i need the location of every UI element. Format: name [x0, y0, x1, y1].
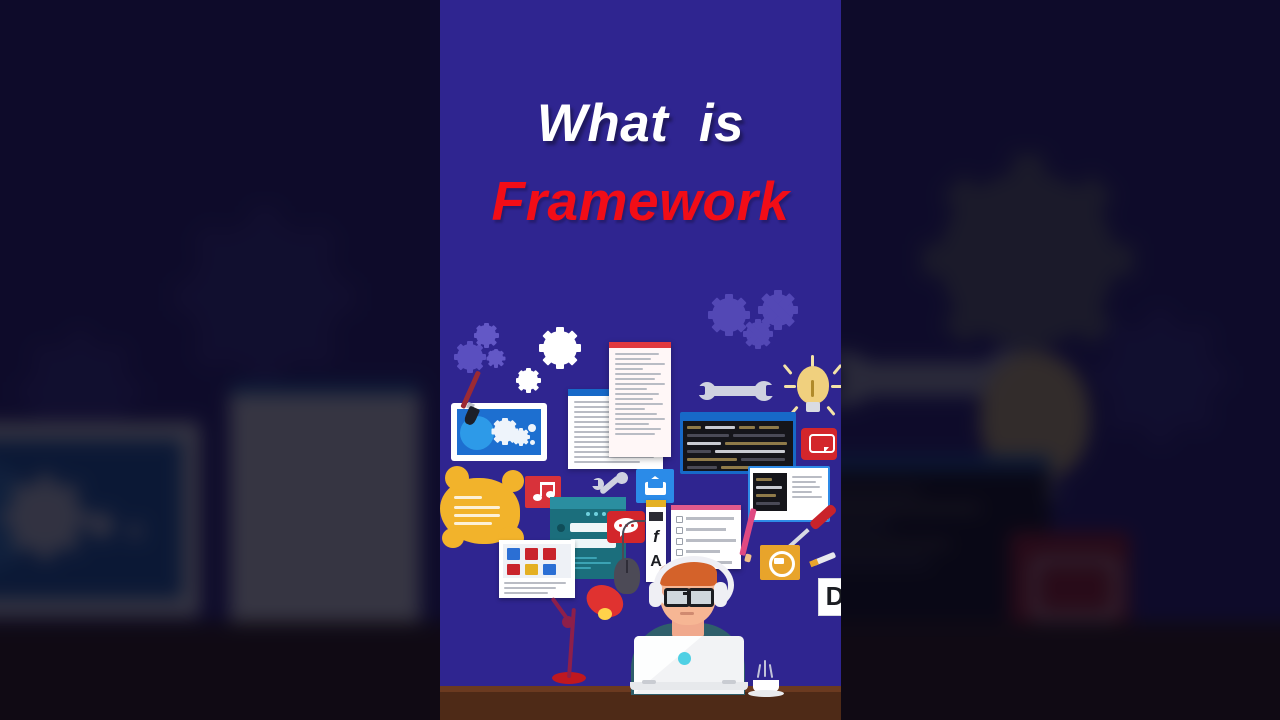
code-line: [715, 450, 785, 453]
gear-icon: [712, 298, 746, 332]
typography-glyph-f: f: [648, 527, 664, 547]
wrench-notch: [766, 385, 775, 396]
title-block: What is Framework: [440, 96, 841, 230]
form-dot: [586, 512, 590, 516]
letter-glyph-d: D: [820, 580, 841, 612]
center-panel: What is Framework: [440, 0, 841, 720]
code-line: [705, 426, 735, 429]
gear-icon: [518, 370, 538, 390]
checklist-bullet: [676, 516, 683, 523]
code-line: [756, 478, 772, 481]
thumbnail-stage: What is Framework: [0, 0, 1280, 720]
laptop-logo: [678, 652, 691, 665]
blob-bump: [445, 466, 469, 490]
checklist-line: [686, 539, 736, 542]
checklist-bullet: [676, 538, 683, 545]
preview-text-lines: [792, 476, 822, 501]
color-swatch: [507, 564, 520, 575]
code-line: [756, 486, 782, 489]
chat-bubble-tail: [824, 447, 829, 453]
monitor-dot: [528, 424, 536, 432]
coffee-saucer: [748, 690, 784, 697]
code-line: [739, 426, 755, 429]
badge-center: [774, 558, 784, 564]
checklist-bullet: [676, 527, 683, 534]
bulb-base: [806, 402, 820, 412]
blob-bump: [442, 528, 464, 548]
document-red-lines: [615, 353, 667, 438]
palette-lines: [504, 582, 566, 597]
color-swatch: [525, 548, 538, 560]
code-line: [759, 426, 779, 429]
gear-icon: [514, 430, 528, 444]
typography-header: [646, 500, 666, 507]
code-line: [733, 434, 785, 437]
color-swatch: [543, 548, 556, 560]
code-line: [756, 494, 776, 497]
code-line: [687, 426, 701, 429]
typography-strip: [649, 512, 663, 521]
code-line: [687, 442, 721, 445]
code-line: [687, 458, 737, 461]
form-dot: [594, 512, 598, 516]
laptop-foot: [642, 680, 656, 684]
code-line: [741, 458, 785, 461]
glasses-bridge: [683, 592, 691, 595]
blob-bump: [502, 470, 524, 492]
speech-dot: [619, 524, 622, 527]
checklist-line: [686, 550, 720, 553]
code-line: [687, 466, 717, 469]
bulb-filament: [811, 380, 814, 397]
glasses: [664, 588, 714, 604]
checklist-header: [671, 505, 741, 510]
color-swatch: [525, 564, 538, 575]
lamp-joint: [562, 616, 574, 628]
code-line: [687, 434, 729, 437]
form-window-titlebar: [550, 497, 626, 509]
color-swatch: [543, 564, 556, 575]
glasses-lens-left: [664, 588, 690, 607]
gear-icon: [476, 325, 496, 345]
form-field-icon: [557, 524, 565, 532]
monitor-dot: [530, 440, 535, 445]
chat-bubble-icon: [809, 434, 835, 453]
document-red-header: [609, 342, 671, 348]
checklist-bullet: [676, 549, 683, 556]
title-line-1: What is: [440, 96, 841, 151]
code-line: [756, 502, 780, 505]
glasses-lens-right: [688, 588, 714, 607]
title-line-2: Framework: [440, 173, 841, 230]
color-swatch: [507, 548, 520, 560]
gear-icon: [488, 350, 503, 365]
badge-ring-icon: [769, 551, 795, 577]
checklist-line: [686, 528, 726, 531]
form-dot: [602, 512, 606, 516]
bulb-ray: [831, 385, 841, 388]
gear-icon: [457, 344, 483, 370]
headphones-cup: [649, 582, 662, 607]
bulb-ray: [784, 385, 796, 388]
lamp-bulb: [598, 608, 612, 620]
wrench-notch: [697, 386, 705, 395]
gear-icon: [762, 294, 794, 326]
code-line: [725, 442, 787, 445]
mouse-button-split: [626, 560, 628, 573]
gear-icon: [543, 331, 577, 365]
headphones-cup: [714, 582, 727, 607]
envelope-body: [648, 479, 663, 488]
laptop-foot: [722, 680, 736, 684]
checklist-line: [686, 517, 734, 520]
code-line: [687, 450, 711, 453]
person-mouth: [680, 612, 694, 615]
steam-line: [764, 660, 766, 677]
